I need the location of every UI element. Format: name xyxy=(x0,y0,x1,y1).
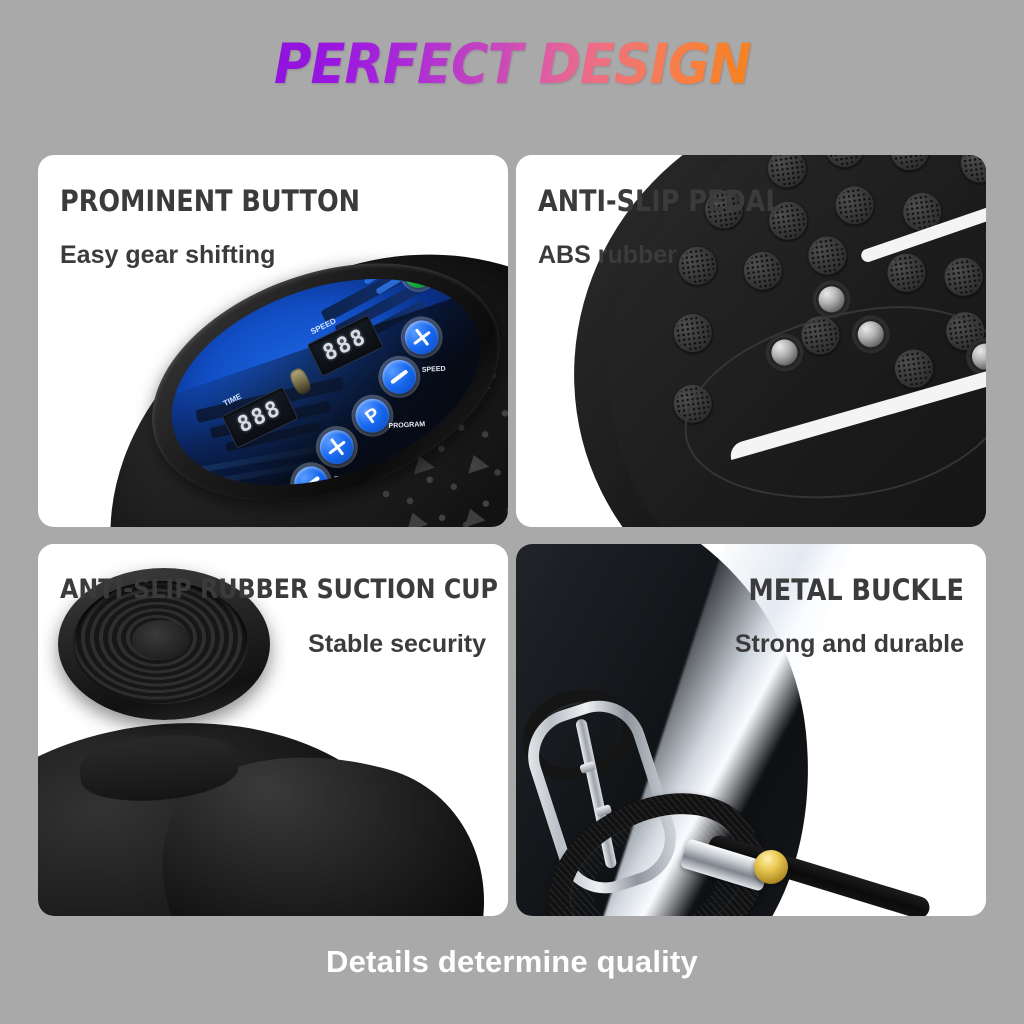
footer-caption: Details determine quality xyxy=(0,944,1024,980)
panel-prominent-button: TIME 888 SPEED 888 TI xyxy=(38,155,508,527)
triangle-texture-mark xyxy=(460,505,486,527)
page-title: PERFECT DESIGN xyxy=(273,32,750,96)
grip-pad xyxy=(764,155,809,191)
program-p-icon: P xyxy=(362,404,384,427)
triangle-texture-mark xyxy=(463,452,489,474)
plus-icon xyxy=(322,433,351,462)
grip-pad xyxy=(675,243,720,288)
metal-buckle-photo xyxy=(516,544,986,916)
panel-anti-slip-rubber-suction-cup: ANTI-SLIP RUBBER SUCTION CUP Stable secu… xyxy=(38,544,508,916)
grip-pad xyxy=(832,183,877,228)
suction-cup-photo xyxy=(38,544,508,916)
pedal-outer-rim xyxy=(538,155,986,527)
triangle-texture-mark xyxy=(402,509,428,527)
panel-metal-buckle: METAL BUCKLE Strong and durable xyxy=(516,544,986,916)
pedal-contour-line xyxy=(671,290,986,519)
grip-pad xyxy=(957,155,986,186)
suction-cup-center xyxy=(132,620,190,660)
grip-pad xyxy=(887,155,932,174)
panel-anti-slip-pedal: ANTI-SLIP PEDAL ABS rubber xyxy=(516,155,986,527)
plus-icon xyxy=(407,323,436,352)
pedal-photo xyxy=(516,155,986,527)
minus-icon xyxy=(302,476,320,491)
triangle-texture-mark xyxy=(904,526,927,527)
grip-pad xyxy=(822,155,867,171)
grip-pad xyxy=(701,187,746,232)
grip-pad xyxy=(670,310,715,355)
control-panel-photo: TIME 888 SPEED 888 TI xyxy=(38,155,508,527)
suction-cup-ribbed-surface xyxy=(73,581,248,704)
grip-pad xyxy=(941,254,986,299)
grip-pad xyxy=(740,248,785,293)
grip-pad xyxy=(884,250,929,295)
suction-cup-outer-rim xyxy=(58,568,270,720)
pedal-surface xyxy=(575,155,986,527)
header: PERFECT DESIGN xyxy=(0,0,1024,128)
minus-icon xyxy=(390,369,408,384)
time-button-label: TIME xyxy=(334,475,351,483)
grip-pad xyxy=(766,198,811,243)
speed-button-label: SPEED xyxy=(422,366,446,374)
play-icon xyxy=(410,263,428,281)
triangle-texture-mark xyxy=(507,416,508,438)
grip-pad xyxy=(805,233,850,278)
